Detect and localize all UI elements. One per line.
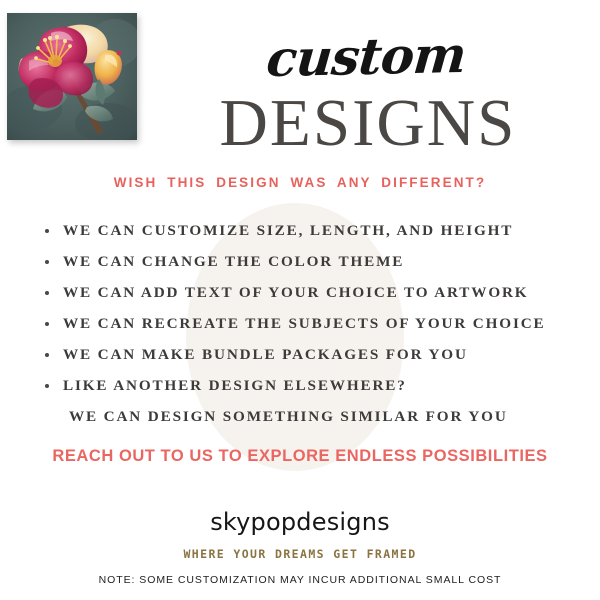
- list-item: WE CAN ADD TEXT OF YOUR CHOICE TO ARTWOR…: [44, 277, 589, 308]
- page-title-script: custom: [265, 30, 468, 84]
- list-item: WE CAN CUSTOMIZE SIZE, LENGTH, AND HEIGH…: [44, 215, 589, 246]
- footnote-disclaimer: NOTE: SOME CUSTOMIZATION MAY INCUR ADDIT…: [0, 574, 600, 586]
- headline-block: custom DESIGNS: [140, 22, 600, 157]
- floral-painting-icon: [7, 13, 137, 140]
- list-item: WE CAN CHANGE THE COLOR THEME: [44, 246, 589, 277]
- artwork-thumbnail[interactable]: [7, 13, 137, 140]
- page-title-serif: DESIGNS: [136, 90, 600, 157]
- feature-list: WE CAN CUSTOMIZE SIZE, LENGTH, AND HEIGH…: [44, 215, 589, 432]
- list-item-continuation: WE CAN DESIGN SOMETHING SIMILAR FOR YOU: [44, 401, 589, 432]
- call-to-action-text: REACH OUT TO US TO EXPLORE ENDLESS POSSI…: [0, 447, 600, 466]
- list-item: LIKE ANOTHER DESIGN ELSEWHERE?: [44, 370, 589, 401]
- brand-name: skypopdesigns: [0, 508, 600, 536]
- promo-graphic-canvas: custom DESIGNS WISH THIS DESIGN WAS ANY …: [0, 0, 600, 600]
- list-item: WE CAN MAKE BUNDLE PACKAGES FOR YOU: [44, 339, 589, 370]
- brand-slogan: WHERE YOUR DREAMS GET FRAMED: [0, 547, 600, 561]
- list-item: WE CAN RECREATE THE SUBJECTS OF YOUR CHO…: [44, 308, 589, 339]
- tagline: WISH THIS DESIGN WAS ANY DIFFERENT?: [0, 175, 600, 190]
